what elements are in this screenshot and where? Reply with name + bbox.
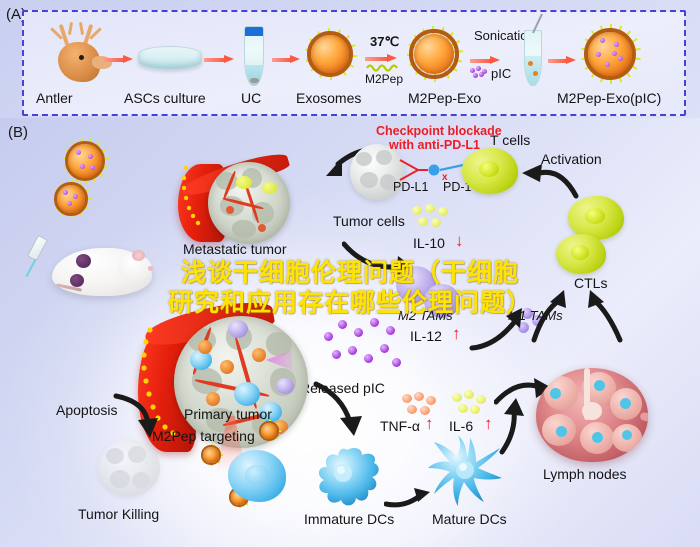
targeting-exosome-icon-1: [258, 420, 280, 442]
mature-dcs-label: Mature DCs: [432, 511, 507, 527]
injected-exosome-icon-2: [52, 180, 90, 218]
asc-culture-label: ASCs culture: [124, 90, 206, 106]
panel-b-tag: (B): [8, 124, 28, 141]
arrow-5: [470, 56, 500, 65]
pdl1-label: PD-L1: [393, 180, 428, 194]
loaded-exosome-icon: [580, 24, 640, 84]
temperature-annotation: 37℃: [370, 34, 399, 50]
dying-tumor-icon: [98, 440, 160, 496]
il10-label: IL-10: [413, 235, 445, 251]
panel-a: (A) Antler ASCs culture UC: [0, 0, 700, 118]
tnfa-label: TNF-α: [380, 418, 420, 434]
centrifuge-tube-icon: [244, 26, 264, 86]
metastatic-tumor-icon: [178, 144, 318, 252]
sonication-tube-icon: [524, 30, 542, 86]
lymph-nodes-label: Lymph nodes: [543, 466, 627, 482]
m2pep-targeting-label: M2Pep targeting: [152, 428, 255, 444]
deer-head-icon: [42, 22, 120, 84]
uc-label: UC: [241, 90, 261, 106]
m2pep-exo-label: M2Pep-Exo: [408, 90, 481, 106]
antler-label: Antler: [36, 90, 73, 106]
il12-up-arrow: ↑: [452, 324, 461, 344]
injected-exosome-icon-1: [62, 138, 108, 184]
t-cell-icon: [462, 148, 518, 194]
m2pep-annotation: M2Pep: [365, 72, 403, 86]
lymph-node-icon: [536, 368, 648, 462]
m1-tams-label: M1 TAMs: [508, 308, 563, 323]
sonicator-probe-icon: [528, 14, 546, 34]
metastatic-tumor-label: Metastatic tumor: [183, 241, 286, 257]
targeting-exosome-icon-2: [200, 444, 222, 466]
immature-dc-icon: [310, 442, 384, 512]
tumor-killing-label: Tumor Killing: [78, 506, 159, 522]
syringe-icon: [22, 236, 56, 284]
ctls-label: CTLs: [574, 275, 607, 291]
exosomes-label: Exosomes: [296, 90, 361, 106]
m2pep-exo-pic-label: M2Pep-Exo(pIC): [557, 90, 661, 106]
arrow-3: [272, 55, 300, 64]
tumor-cells-label: Tumor cells: [333, 213, 405, 229]
il6-up-arrow: ↑: [484, 414, 493, 434]
arrow-ctls-up-right: [582, 290, 630, 344]
peptide-exosome-icon: [406, 26, 462, 82]
tnfa-up-arrow: ↑: [425, 414, 434, 434]
il6-label: IL-6: [449, 418, 473, 434]
il10-dots-icon: [412, 204, 450, 230]
t-cells-label: T cells: [490, 132, 530, 148]
targeted-macrophage-icon: [228, 450, 286, 502]
arrow-1: [103, 55, 133, 64]
m2-tams-label: M2 TAMs: [398, 308, 453, 323]
figure-canvas: (A) Antler ASCs culture UC: [0, 0, 700, 547]
checkpoint-blockade-line-1: Checkpoint blockade: [376, 124, 502, 138]
immature-dcs-label: Immature DCs: [304, 511, 394, 527]
pic-annotation: pIC: [491, 66, 511, 81]
mature-dc-icon: [428, 436, 506, 510]
exosome-icon: [304, 28, 356, 80]
ctl-icon-2: [556, 234, 606, 274]
pic-dots-icon: [470, 66, 488, 78]
il10-down-arrow: ↓: [455, 231, 464, 251]
checkpoint-blockade-line-2: with anti-PD-L1: [389, 138, 480, 152]
vessel-dots-icon: [178, 158, 218, 242]
apoptosis-label: Apoptosis: [56, 402, 117, 418]
mouse-icon: [52, 248, 152, 296]
activation-label: Activation: [541, 151, 602, 167]
arrow-2: [204, 55, 234, 64]
petri-dish-icon: [138, 46, 202, 70]
released-pic-dots-icon: [324, 318, 402, 374]
arrow-6: [548, 56, 576, 65]
panel-b: (B): [0, 118, 700, 547]
il12-label: IL-12: [410, 328, 442, 344]
il6-dots-icon: [452, 390, 488, 416]
